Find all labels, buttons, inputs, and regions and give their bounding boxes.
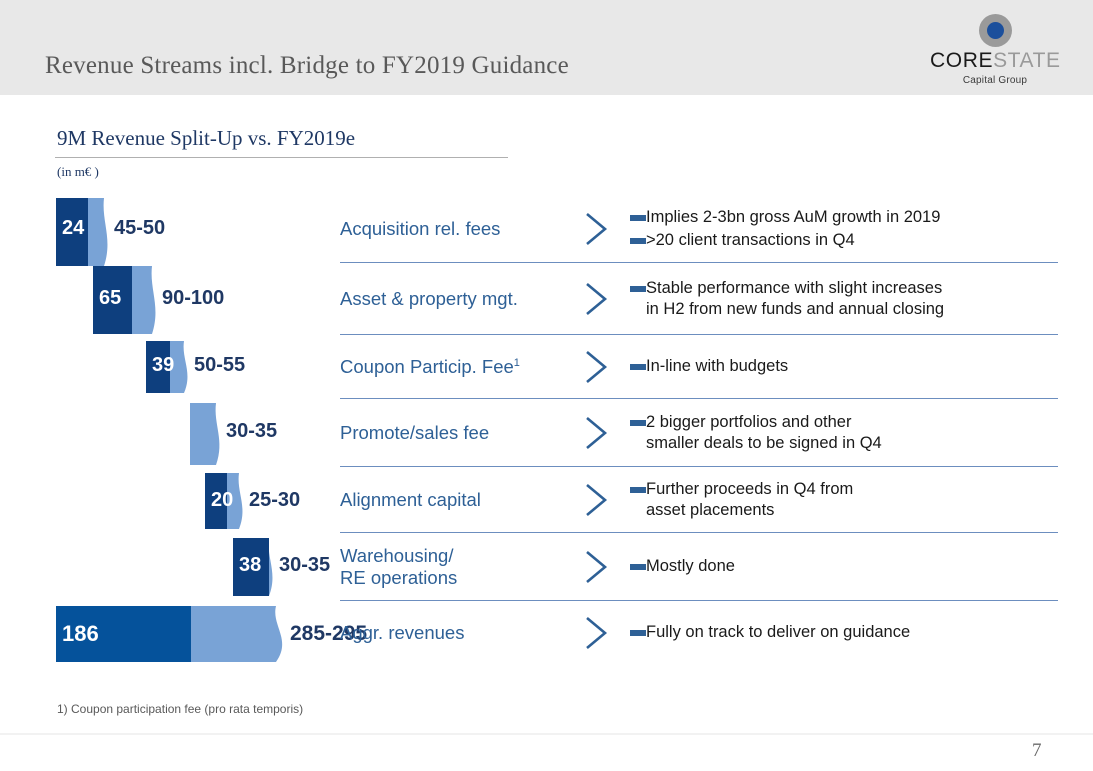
bullet-text: 2 bigger portfolios and other smaller de… [646, 412, 1058, 454]
bullet-item: Further proceeds in Q4 from asset placem… [630, 479, 1058, 521]
row-label-text: Asset & property mgt. [340, 288, 518, 309]
bullet-text: Mostly done [646, 556, 1058, 577]
detail-row: Aggr. revenuesFully on track to deliver … [340, 602, 1058, 664]
footer-divider [0, 733, 1093, 735]
chevron-right-icon [570, 413, 622, 453]
bullet-item: Mostly done [630, 556, 1058, 577]
bullet-item: 2 bigger portfolios and other smaller de… [630, 412, 1058, 454]
bar-actual-value: 186 [62, 623, 99, 645]
bar-group [93, 266, 166, 334]
row-label-text: Warehousing/ RE operations [340, 545, 457, 588]
bar-group [56, 198, 118, 266]
row-label: Acquisition rel. fees [340, 218, 570, 240]
footnote: 1) Coupon participation fee (pro rata te… [57, 702, 303, 716]
row-separator [340, 532, 1058, 533]
bullet-text: In-line with budgets [646, 356, 1058, 377]
bullet-item: Implies 2-3bn gross AuM growth in 2019 [630, 207, 1058, 228]
bar-group [233, 538, 283, 596]
bar-guidance-range: 50-55 [194, 355, 245, 375]
row-bullets: Mostly done [622, 556, 1058, 577]
row-bullets: Stable performance with slight increases… [622, 278, 1058, 320]
chevron-right-icon [570, 480, 622, 520]
bullet-text: Further proceeds in Q4 from asset placem… [646, 479, 1058, 521]
chevron-right-icon [570, 279, 622, 319]
row-label: Warehousing/ RE operations [340, 545, 570, 589]
chevron-right-icon [570, 547, 622, 587]
row-bullets: Fully on track to deliver on guidance [622, 622, 1058, 643]
bar-group [190, 403, 230, 465]
logo-circle-icon [979, 14, 1012, 47]
page-number: 7 [1032, 740, 1042, 762]
row-label-text: Aggr. revenues [340, 622, 464, 643]
row-label: Alignment capital [340, 489, 570, 511]
row-label: Asset & property mgt. [340, 288, 570, 310]
bullet-item: Stable performance with slight increases… [630, 278, 1058, 320]
row-label: Aggr. revenues [340, 622, 570, 644]
row-bullets: 2 bigger portfolios and other smaller de… [622, 412, 1058, 454]
detail-row: Coupon Particip. Fee1In-line with budget… [340, 336, 1058, 398]
bullet-square-icon [630, 215, 646, 221]
bar-group [205, 473, 253, 529]
row-separator [340, 466, 1058, 467]
chevron-right-icon [570, 613, 622, 653]
bullet-square-icon [630, 420, 646, 426]
bullet-square-icon [630, 364, 646, 370]
bar-actual-value: 39 [152, 355, 174, 375]
bar-guidance-range: 45-50 [114, 218, 165, 238]
row-label-text: Alignment capital [340, 489, 481, 510]
chart-units-label: (in m€ ) [57, 164, 99, 180]
chevron-right-icon [570, 347, 622, 387]
row-bullets: Further proceeds in Q4 from asset placem… [622, 479, 1058, 521]
bar-guidance-range: 30-35 [279, 555, 330, 575]
bullet-text: >20 client transactions in Q4 [646, 230, 1058, 251]
corestate-logo: CORESTATE Capital Group [930, 14, 1060, 86]
bar-group [146, 341, 198, 393]
bullet-text: Fully on track to deliver on guidance [646, 622, 1058, 643]
bar-actual-value: 20 [211, 490, 233, 510]
bullet-square-icon [630, 564, 646, 570]
row-bullets: Implies 2-3bn gross AuM growth in 2019>2… [622, 207, 1058, 251]
row-separator [340, 398, 1058, 399]
row-label-text: Coupon Particip. Fee [340, 356, 514, 377]
bullet-text: Implies 2-3bn gross AuM growth in 2019 [646, 207, 1058, 228]
chart-heading: 9M Revenue Split-Up vs. FY2019e [57, 126, 355, 151]
bullet-item: >20 client transactions in Q4 [630, 230, 1058, 251]
logo-word-core: CORE [930, 49, 993, 72]
bullet-item: In-line with budgets [630, 356, 1058, 377]
bar-guidance-range: 30-35 [226, 421, 277, 441]
bullet-item: Fully on track to deliver on guidance [630, 622, 1058, 643]
bar-actual-value: 38 [239, 555, 261, 575]
bar-guidance-range: 25-30 [249, 490, 300, 510]
bar-guidance-range: 90-100 [162, 288, 224, 308]
row-label-footnote-marker: 1 [514, 357, 520, 369]
bar-actual-value: 65 [99, 288, 121, 308]
bullet-square-icon [630, 238, 646, 244]
row-label: Coupon Particip. Fee1 [340, 356, 570, 378]
bullet-square-icon [630, 487, 646, 493]
logo-circle-inner [987, 22, 1004, 39]
chart-heading-rule [55, 157, 508, 158]
bar-actual-value: 24 [62, 218, 84, 238]
logo-word-state: STATE [993, 49, 1061, 72]
row-bullets: In-line with budgets [622, 356, 1058, 377]
logo-wordmark: CORESTATE [930, 50, 1060, 71]
detail-row: Acquisition rel. feesImplies 2-3bn gross… [340, 196, 1058, 262]
detail-row: Promote/sales fee2 bigger portfolios and… [340, 400, 1058, 466]
row-label: Promote/sales fee [340, 422, 570, 444]
row-separator [340, 600, 1058, 601]
row-label-text: Promote/sales fee [340, 422, 489, 443]
row-label-text: Acquisition rel. fees [340, 218, 500, 239]
detail-row: Warehousing/ RE operationsMostly done [340, 534, 1058, 600]
chevron-right-icon [570, 209, 622, 249]
bar-group [56, 606, 290, 662]
detail-row: Asset & property mgt.Stable performance … [340, 264, 1058, 334]
row-separator [340, 262, 1058, 263]
bullet-square-icon [630, 630, 646, 636]
logo-tagline: Capital Group [930, 75, 1060, 86]
detail-row: Alignment capitalFurther proceeds in Q4 … [340, 468, 1058, 532]
bullet-square-icon [630, 286, 646, 292]
row-separator [340, 334, 1058, 335]
page-title: Revenue Streams incl. Bridge to FY2019 G… [45, 52, 569, 80]
bullet-text: Stable performance with slight increases… [646, 278, 1058, 320]
